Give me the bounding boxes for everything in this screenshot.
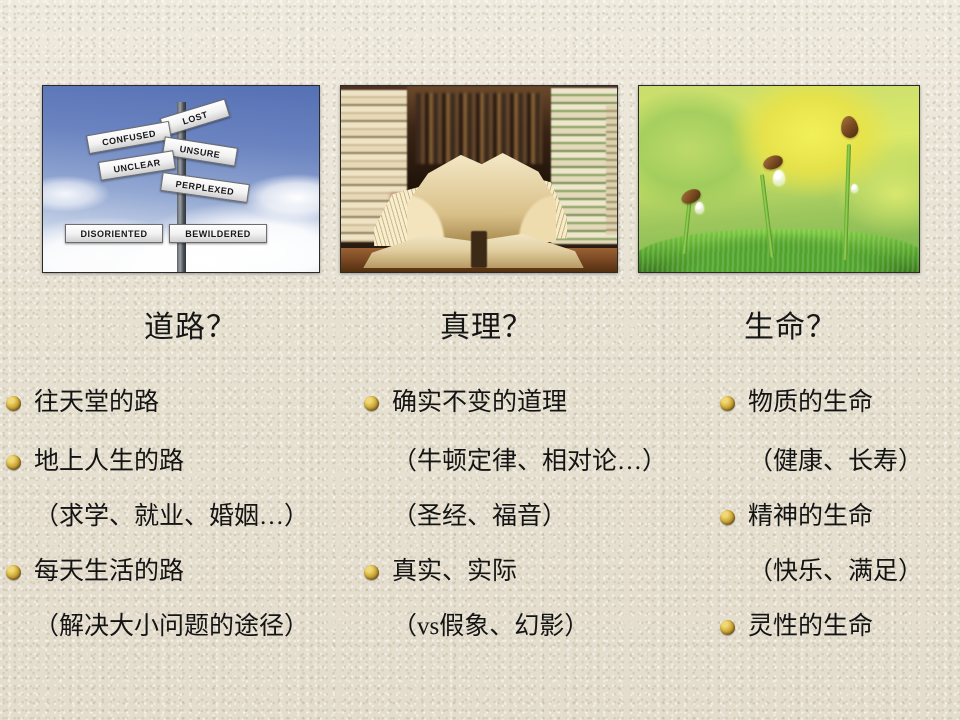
list-item-sub: （圣经、福音） (364, 502, 567, 532)
shelf-book-spines (416, 93, 543, 164)
dew-drop-icon (695, 202, 704, 214)
photo-row: LOST CONFUSED UNSURE UNCLEAR PERPLEXED D… (0, 0, 960, 290)
list-item: 往天堂的路 (6, 388, 159, 418)
open-book-spine (471, 231, 488, 268)
list-item-sub: （快乐、满足） (720, 557, 923, 587)
sign-disoriented: DISORIENTED (65, 224, 163, 243)
sprout-right (821, 110, 885, 260)
bullet-icon (6, 396, 21, 411)
bullet-icon (6, 565, 21, 580)
column-heading-way: 道路？ (144, 302, 237, 346)
sprout-middle (743, 138, 813, 258)
seed-icon (761, 153, 784, 172)
list-item: 精神的生命 (720, 502, 873, 532)
list-item: 地上人生的路 (6, 447, 184, 477)
list-item-sub: （解决大小问题的途径） (6, 612, 309, 642)
list-item: 确实不变的道理 (364, 388, 567, 418)
list-item-sub: （求学、就业、婚姻…） (6, 502, 309, 532)
books-photo (340, 85, 618, 273)
bullet-icon (720, 620, 735, 635)
sprouts-photo (638, 85, 920, 273)
sprout-left (673, 174, 733, 254)
signpost-photo: LOST CONFUSED UNSURE UNCLEAR PERPLEXED D… (42, 85, 320, 273)
slide-canvas: LOST CONFUSED UNSURE UNCLEAR PERPLEXED D… (0, 0, 960, 720)
bullet-icon (720, 396, 735, 411)
list-item-sub: （健康、长寿） (720, 447, 923, 477)
bullet-icon (364, 396, 379, 411)
stem-icon (760, 174, 774, 258)
list-item: 每天生活的路 (6, 557, 184, 587)
list-item-sub: （牛顿定律、相对论…） (364, 447, 667, 477)
bullet-icon (720, 510, 735, 525)
dew-drop-icon (773, 170, 785, 186)
bullet-icon (6, 455, 21, 470)
column-heading-life: 生命？ (744, 302, 837, 346)
dew-drop-icon (851, 184, 858, 193)
bullet-icon (364, 565, 379, 580)
stem-icon (843, 144, 851, 260)
list-item: 真实、实际 (364, 557, 517, 587)
bullet-columns: 往天堂的路 地上人生的路 （求学、就业、婚姻…） 每天生活的路 （解决大小问题的… (0, 388, 960, 678)
list-item-sub: （vs假象、幻影） (364, 612, 589, 642)
list-item: 物质的生命 (720, 388, 873, 418)
book-stack-far-right (606, 105, 618, 235)
list-item: 灵性的生命 (720, 612, 873, 642)
column-heading-truth: 真理？ (440, 302, 533, 346)
stem-icon (682, 196, 692, 254)
sign-bewildered: BEWILDERED (169, 224, 267, 243)
seed-icon (840, 115, 860, 139)
